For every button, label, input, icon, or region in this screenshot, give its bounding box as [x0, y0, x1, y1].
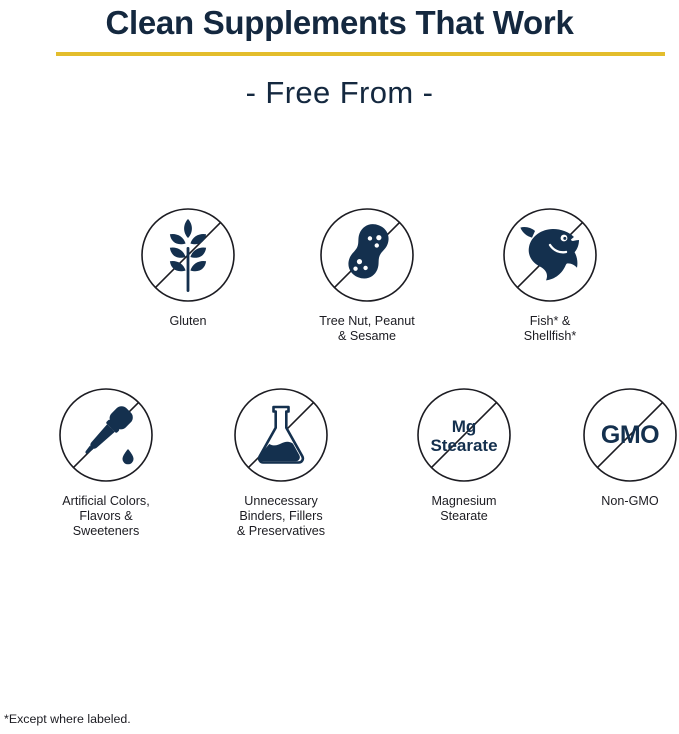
wheat-icon	[140, 207, 236, 303]
badge-fish-shellfish: Fish* & Shellfish*	[475, 207, 625, 344]
badge-caption: Artificial Colors, Flavors & Sweeteners	[31, 494, 181, 539]
badge-magnesium-stearate: Mg Stearate Magnesium Stearate	[389, 387, 539, 524]
peanut-icon	[319, 207, 415, 303]
badge-caption: Gluten	[113, 314, 263, 329]
badge-unnecessary-binders: Unnecessary Binders, Fillers & Preservat…	[206, 387, 356, 539]
caption-line: Fish* &	[530, 314, 571, 328]
caption-line: & Sesame	[338, 329, 396, 343]
badge-gluten: Gluten	[113, 207, 263, 329]
gmo-label: GMO	[601, 421, 659, 449]
caption-line: Flavors &	[79, 509, 132, 523]
dropper-icon	[58, 387, 154, 483]
badge-caption: Non-GMO	[555, 494, 679, 509]
badge-tree-nut-peanut-sesame: Tree Nut, Peanut & Sesame	[292, 207, 442, 344]
page-title: Clean Supplements That Work	[0, 2, 679, 44]
caption-line: Non-GMO	[601, 494, 658, 508]
gold-divider	[56, 52, 665, 56]
mg-line-2: Stearate	[430, 436, 497, 455]
caption-line: Tree Nut, Peanut	[319, 314, 414, 328]
caption-line: Stearate	[440, 509, 488, 523]
caption-line: Shellfish*	[524, 329, 577, 343]
caption-line: Magnesium	[431, 494, 496, 508]
badge-caption: Unnecessary Binders, Fillers & Preservat…	[206, 494, 356, 539]
caption-line: Sweeteners	[73, 524, 140, 538]
fish-icon	[502, 207, 598, 303]
page-subtitle: - Free From -	[0, 73, 679, 113]
badge-caption: Fish* & Shellfish*	[475, 314, 625, 344]
caption-line: Artificial Colors,	[62, 494, 149, 508]
gmo-icon: GMO	[582, 387, 678, 483]
caption-line: Gluten	[169, 314, 206, 328]
caption-line: & Preservatives	[237, 524, 325, 538]
badge-caption: Tree Nut, Peanut & Sesame	[292, 314, 442, 344]
caption-line: Unnecessary	[244, 494, 318, 508]
badge-artificial-colors: Artificial Colors, Flavors & Sweeteners	[31, 387, 181, 539]
badge-caption: Magnesium Stearate	[389, 494, 539, 524]
badge-non-gmo: GMO Non-GMO	[555, 387, 679, 509]
caption-line: Binders, Fillers	[239, 509, 322, 523]
footnote: *Except where labeled.	[4, 712, 131, 726]
mg-line-1: Mg	[452, 417, 477, 436]
mg-stearate-icon: Mg Stearate	[416, 387, 512, 483]
free-from-infographic: Clean Supplements That Work - Free From …	[0, 0, 679, 734]
flask-icon	[233, 387, 329, 483]
